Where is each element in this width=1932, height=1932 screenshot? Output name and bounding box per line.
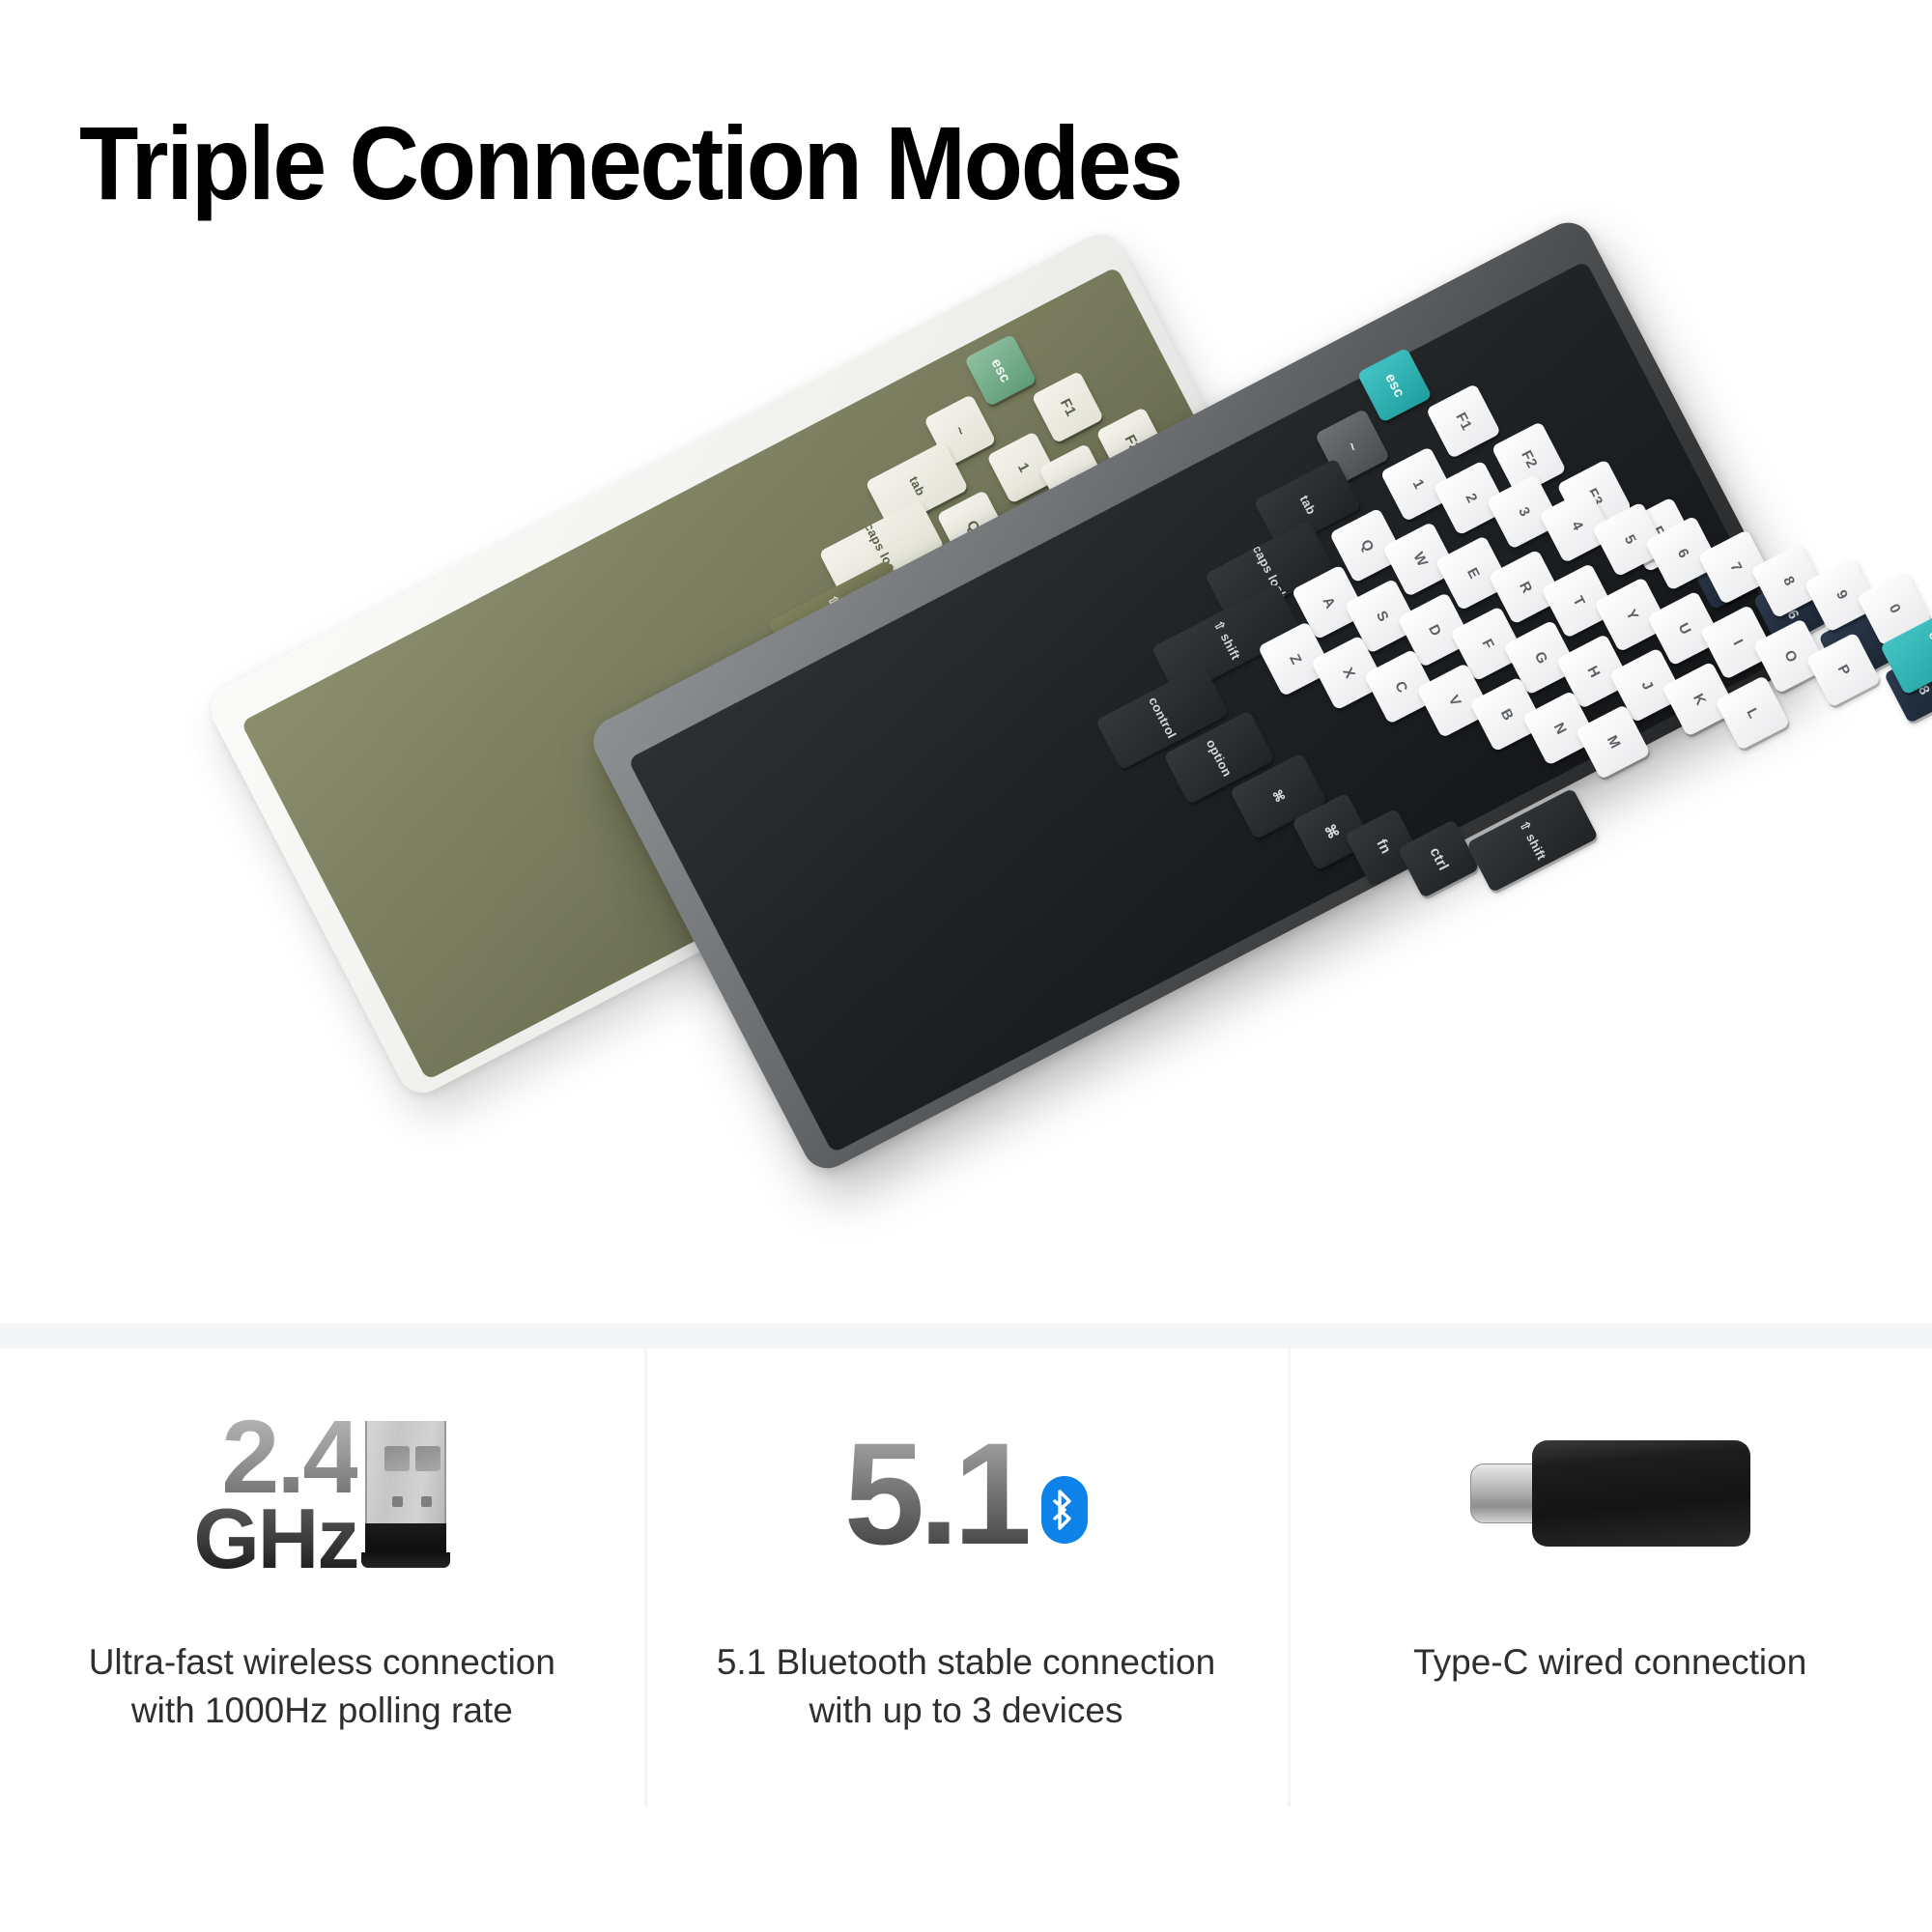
keycap-label: Z (1286, 651, 1304, 667)
badge-24-value: 2.4 (221, 1412, 357, 1502)
keycap-label: D (1425, 621, 1444, 639)
hero-section: Triple Connection Modes esc~tabcaps lock… (0, 0, 1932, 1323)
keycap-label: ⇧ shift (1516, 818, 1549, 863)
keycap-label: G (1531, 648, 1551, 666)
keycap-label: enter (1926, 628, 1932, 663)
keycap-label: 1 (1013, 460, 1032, 475)
keycap-label: tab (906, 473, 928, 497)
keycap-label: ~ (951, 423, 969, 439)
feature-media-bluetooth: 5.1 (644, 1349, 1289, 1638)
usb-dongle-lip (361, 1552, 450, 1568)
keycap: esc (1357, 348, 1433, 423)
keycap-label: B (1497, 706, 1517, 724)
usb-dongle-icon (361, 1421, 450, 1571)
feature-bluetooth-51: 5.1 5.1 Bluetooth stable connection with… (644, 1349, 1289, 1932)
bluetooth-icon (1041, 1476, 1088, 1544)
keycap: ⇧ shift (1466, 788, 1599, 894)
keycap-label: W (1409, 550, 1431, 570)
keycap-label: fn (1373, 837, 1394, 857)
feature-wireless-24ghz: 2.4 GHz Ultra-fast wireless connection w… (0, 1349, 644, 1932)
keycap-label: esc (1381, 370, 1407, 400)
keycap-label: ~ (1343, 439, 1361, 454)
keycap-label: ⌘ (1321, 821, 1343, 842)
feature-caption-type-c: Type-C wired connection (1413, 1638, 1806, 1687)
usb-dongle-slot (415, 1446, 440, 1471)
keycap-label: J (1637, 678, 1656, 694)
keycap-label: 2 (1462, 491, 1480, 506)
keycap-label: ctrl (1426, 844, 1451, 873)
keycap-label: ⇧ shift (1210, 617, 1244, 662)
feature-type-c: Type-C wired connection (1288, 1349, 1932, 1932)
keycap-label: F2 (1518, 447, 1540, 470)
keycap-label: S (1373, 608, 1392, 624)
keycap: F1 (1426, 384, 1501, 459)
feature-caption-bluetooth: 5.1 Bluetooth stable connection with up … (715, 1638, 1217, 1735)
usb-dongle-metal (365, 1421, 446, 1523)
features-section: 2.4 GHz Ultra-fast wireless connection w… (0, 1349, 1932, 1932)
keyboard-dark-keys: esc~tabcaps lock⇧ shiftcontroloption⌘F1F… (584, 214, 1810, 1178)
keycap-label: L (1743, 705, 1761, 721)
keycap-label: Q (1357, 536, 1378, 554)
keycap-label: H (1584, 663, 1604, 680)
keycap-label: F1 (1452, 410, 1474, 433)
keycap-label: T (1570, 593, 1588, 609)
keycap-label: F (1478, 636, 1496, 651)
keycap-label: 9 (1833, 587, 1851, 603)
keycap-label: F1 (1057, 396, 1079, 419)
keycap-label: 0 (1885, 601, 1903, 616)
keycap-label: E (1463, 565, 1483, 582)
keycap-label: 1 (1408, 476, 1427, 492)
usb-dongle-pin (392, 1496, 403, 1507)
keycap-label: I (1729, 637, 1746, 648)
keycap-label: option (1204, 736, 1235, 779)
keycap-label: 6 (1673, 546, 1691, 561)
keycap-label: control (1146, 695, 1179, 741)
keycap-label: V (1444, 693, 1463, 709)
keycap-label: ⌘ (1268, 787, 1288, 806)
keycap-label: 8 (1779, 574, 1798, 589)
keycap-label: M (1603, 732, 1623, 751)
usb-dongle-pin (421, 1496, 432, 1507)
keycap-label: X (1339, 665, 1358, 681)
keycap: F1 (1031, 371, 1104, 444)
badge-51-value: 5.1 (844, 1429, 1029, 1559)
keycap: esc (964, 334, 1037, 408)
feature-media-24ghz: 2.4 GHz (0, 1349, 644, 1638)
keycap-label: A (1320, 594, 1339, 611)
keycap-label: 3 (1515, 504, 1533, 520)
type-c-shell (1532, 1440, 1750, 1547)
section-separator (0, 1323, 1932, 1349)
keycap: ctrl (1398, 819, 1480, 898)
keycap-label: O (1780, 647, 1801, 665)
keycap-label: N (1550, 720, 1570, 737)
usb-dongle-slot (384, 1446, 410, 1471)
keycap-label: tab (1296, 493, 1319, 517)
usb-type-c-icon (1470, 1440, 1750, 1547)
keycap-label: R (1516, 579, 1535, 596)
keyboard-dark-teal: esc~tabcaps lock⇧ shiftcontroloption⌘F1F… (584, 214, 1810, 1178)
keycap-label: P (1833, 662, 1853, 678)
keycap-label: U (1675, 620, 1694, 638)
feature-media-type-c (1288, 1349, 1932, 1638)
badge-ghz-unit: GHz (193, 1502, 357, 1576)
feature-caption-24ghz: Ultra-fast wireless connection with 1000… (71, 1638, 573, 1735)
keycap-label: C (1391, 678, 1410, 696)
keycap-label: 7 (1726, 559, 1745, 575)
keycap-label: K (1690, 691, 1709, 708)
keycap-label: 5 (1620, 532, 1638, 548)
keycap-label: esc (987, 355, 1013, 385)
keyboard-product-image: esc~tabcaps lock⇧ shiftcontroloption⌘F1F… (0, 0, 1932, 1323)
keycap-label: Y (1622, 607, 1641, 623)
keycap-label: 4 (1568, 518, 1586, 533)
